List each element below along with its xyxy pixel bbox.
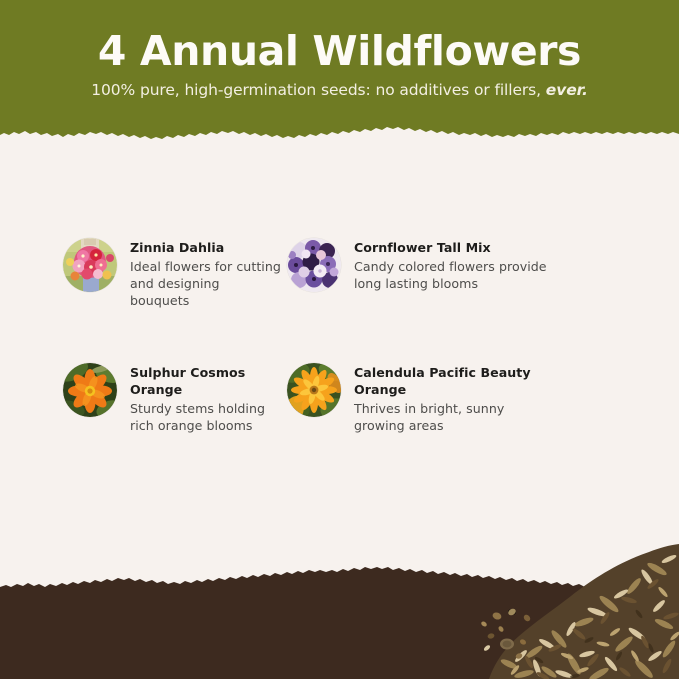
zinnia-dahlia-thumbnail-graphic: [63, 238, 117, 292]
feature-text: Zinnia Dahlia Ideal flowers for cutting …: [130, 238, 282, 309]
feature-title: Sulphur Cosmos Orange: [130, 365, 282, 398]
feature-text: Calendula Pacific Beauty Orange Thrives …: [354, 363, 559, 434]
feature-title: Zinnia Dahlia: [130, 240, 282, 257]
feature-list: Zinnia Dahlia Ideal flowers for cutting …: [0, 238, 679, 434]
seed-pile-graphic: [479, 544, 679, 679]
feature-row: Zinnia Dahlia Ideal flowers for cutting …: [0, 238, 679, 309]
feature-description: Sturdy stems holding rich orange blooms: [130, 400, 282, 435]
subtitle-emphasis: ever.: [546, 81, 588, 99]
cornflower-tall-mix-photo: [287, 238, 341, 292]
subtitle-lead: 100% pure, high-germination seeds: no ad…: [91, 81, 546, 99]
feature-text: Cornflower Tall Mix Candy colored flower…: [354, 238, 559, 292]
feature-row: Sulphur Cosmos Orange Sturdy stems holdi…: [0, 363, 679, 434]
feature-item-sulphur-cosmos-orange[interactable]: Sulphur Cosmos Orange Sturdy stems holdi…: [0, 363, 282, 434]
feature-description: Ideal flowers for cutting and designing …: [130, 258, 282, 310]
product-infographic: 4 Annual Wildflowers 100% pure, high-ger…: [0, 0, 679, 679]
sulphur-cosmos-orange-thumbnail-graphic: [63, 363, 117, 417]
feature-item-calendula-pacific-beauty-orange[interactable]: Calendula Pacific Beauty Orange Thrives …: [282, 363, 679, 434]
feature-description: Thrives in bright, sunny growing areas: [354, 400, 559, 435]
zinnia-dahlia-photo: [63, 238, 117, 292]
page-title: 4 Annual Wildflowers: [98, 29, 581, 75]
wildflower-seed-pile: [479, 544, 679, 679]
feature-item-zinnia-dahlia[interactable]: Zinnia Dahlia Ideal flowers for cutting …: [0, 238, 282, 309]
header-text-block: 4 Annual Wildflowers 100% pure, high-ger…: [0, 0, 679, 128]
feature-description: Candy colored flowers provide long lasti…: [354, 258, 559, 293]
feature-title: Calendula Pacific Beauty Orange: [354, 365, 532, 398]
feature-text: Sulphur Cosmos Orange Sturdy stems holdi…: [130, 363, 282, 434]
sulphur-cosmos-orange-photo: [63, 363, 117, 417]
page-subtitle: 100% pure, high-germination seeds: no ad…: [91, 81, 588, 99]
calendula-pacific-beauty-orange-photo: [287, 363, 341, 417]
feature-title: Cornflower Tall Mix: [354, 240, 532, 257]
feature-item-cornflower-tall-mix[interactable]: Cornflower Tall Mix Candy colored flower…: [282, 238, 679, 309]
calendula-pacific-beauty-orange-thumbnail-graphic: [287, 363, 341, 417]
cornflower-tall-mix-thumbnail-graphic: [287, 238, 341, 292]
header-band: 4 Annual Wildflowers 100% pure, high-ger…: [0, 0, 679, 152]
